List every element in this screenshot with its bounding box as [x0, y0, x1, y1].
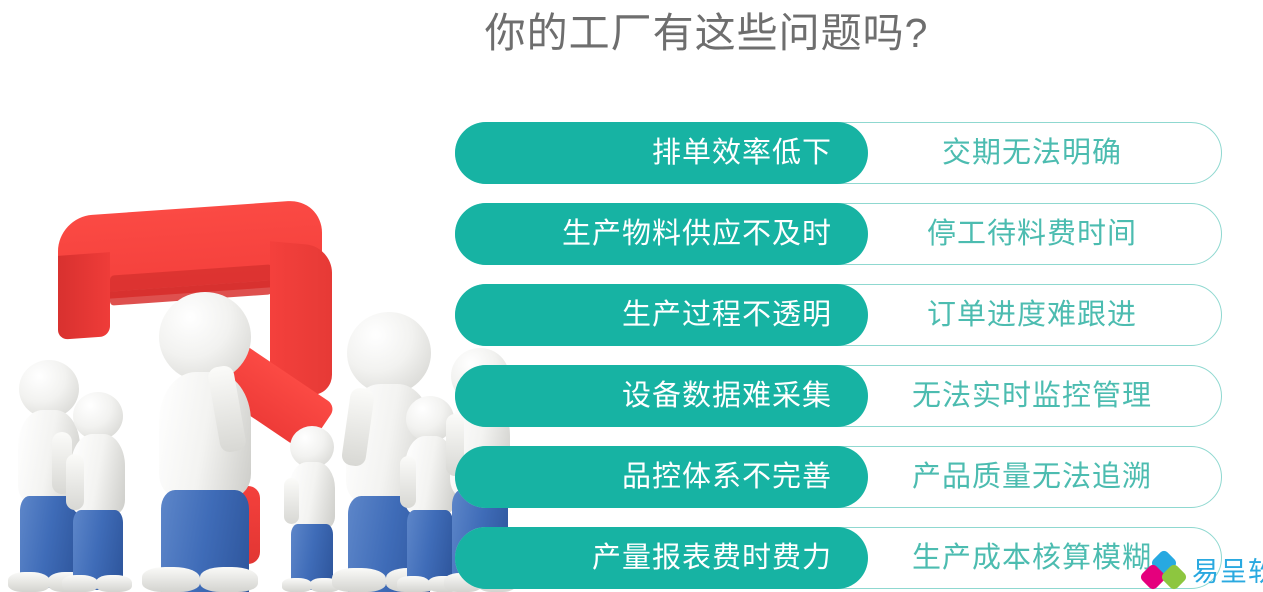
row-problem-label: 排单效率低下 [652, 138, 832, 168]
row-problem[interactable]: 生产物料供应不及时 [455, 203, 868, 265]
logo-text: 易呈软件 [1192, 557, 1263, 587]
brand-logo[interactable]: 易呈软件 [1143, 552, 1263, 592]
problem-list: 交期无法明确 排单效率低下 停工待料费时间 生产物料供应不及时 订单进度难跟进 … [0, 0, 1263, 592]
row-problem-label: 设备数据难采集 [622, 381, 832, 411]
problem-row[interactable]: 生产成本核算模糊 产量报表费时费力 [455, 527, 1222, 589]
row-problem-label: 产量报表费时费力 [592, 543, 832, 573]
row-consequence-label: 无法实时监控管理 [912, 381, 1152, 411]
problem-row[interactable]: 无法实时监控管理 设备数据难采集 [455, 365, 1222, 427]
problem-row[interactable]: 停工待料费时间 生产物料供应不及时 [455, 203, 1222, 265]
row-problem[interactable]: 品控体系不完善 [455, 446, 868, 508]
row-problem[interactable]: 设备数据难采集 [455, 365, 868, 427]
row-consequence-label: 交期无法明确 [942, 138, 1122, 168]
problem-row[interactable]: 订单进度难跟进 生产过程不透明 [455, 284, 1222, 346]
row-consequence: 停工待料费时间 [868, 203, 1222, 265]
row-problem[interactable]: 生产过程不透明 [455, 284, 868, 346]
row-consequence: 产品质量无法追溯 [868, 446, 1222, 508]
row-problem[interactable]: 产量报表费时费力 [455, 527, 868, 589]
problem-row[interactable]: 交期无法明确 排单效率低下 [455, 122, 1222, 184]
row-problem-label: 生产物料供应不及时 [562, 219, 832, 249]
row-problem-label: 品控体系不完善 [622, 462, 832, 492]
row-consequence: 交期无法明确 [868, 122, 1222, 184]
row-problem[interactable]: 排单效率低下 [455, 122, 868, 184]
row-consequence-label: 产品质量无法追溯 [912, 462, 1152, 492]
row-consequence-label: 订单进度难跟进 [927, 300, 1137, 330]
logo-diamond-icon [1143, 554, 1185, 590]
row-consequence: 无法实时监控管理 [868, 365, 1222, 427]
row-consequence-label: 生产成本核算模糊 [912, 543, 1152, 573]
row-consequence: 订单进度难跟进 [868, 284, 1222, 346]
slide-canvas: 你的工厂有这些问题吗? [0, 0, 1263, 592]
row-consequence-label: 停工待料费时间 [927, 219, 1137, 249]
problem-row[interactable]: 产品质量无法追溯 品控体系不完善 [455, 446, 1222, 508]
row-problem-label: 生产过程不透明 [622, 300, 832, 330]
